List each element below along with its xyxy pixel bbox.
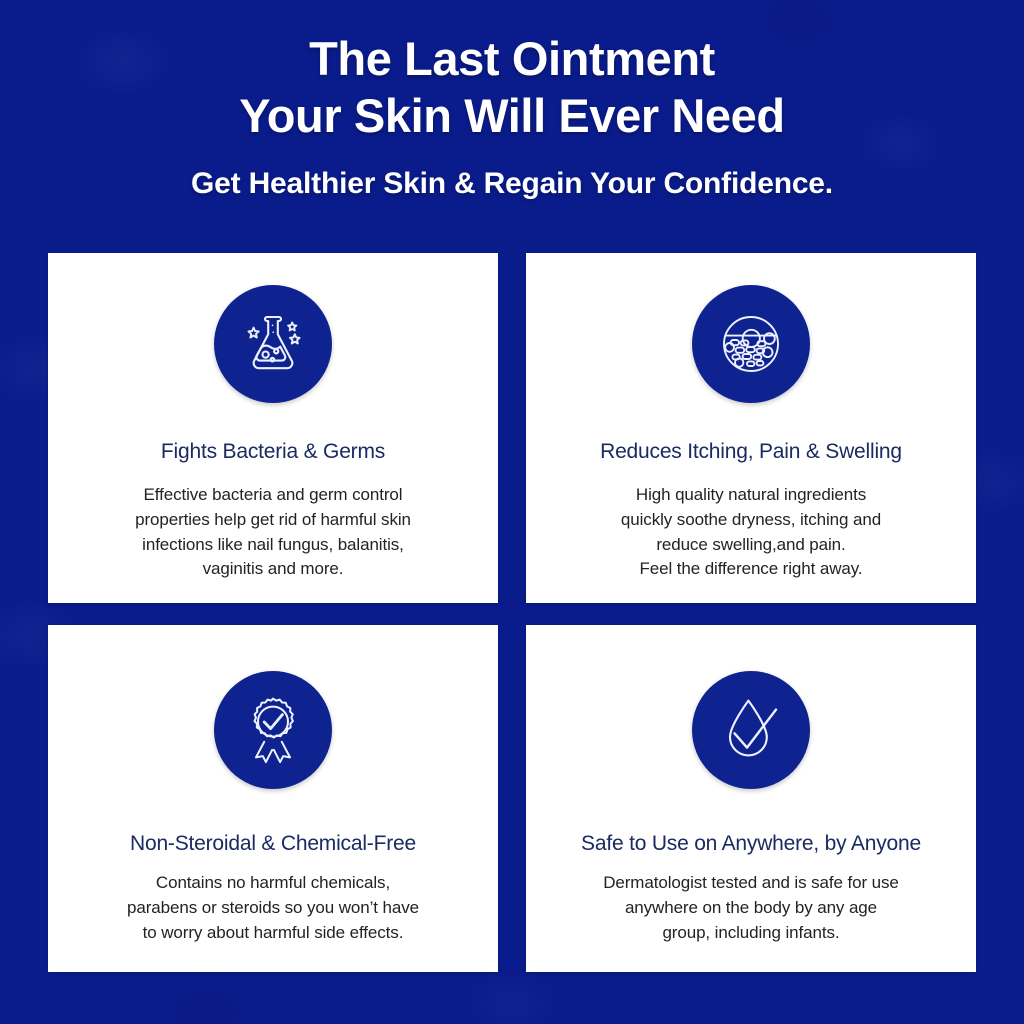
- droplet-check-icon: [692, 671, 810, 789]
- flask-sparkle-icon: [214, 285, 332, 403]
- card-body: Dermatologist tested and is safe for use…: [603, 871, 899, 945]
- award-ribbon-check-icon: [214, 671, 332, 789]
- card-title: Safe to Use on Anywhere, by Anyone: [581, 831, 921, 857]
- page-title: The Last Ointment Your Skin Will Ever Ne…: [0, 30, 1024, 145]
- benefit-card-non-steroidal: Non-Steroidal & Chemical-Free Contains n…: [48, 625, 498, 972]
- benefit-card-safe-to-use: Safe to Use on Anywhere, by Anyone Derma…: [526, 625, 976, 972]
- header: The Last Ointment Your Skin Will Ever Ne…: [0, 0, 1024, 201]
- card-body: Contains no harmful chemicals, parabens …: [127, 871, 419, 945]
- card-title: Fights Bacteria & Germs: [161, 439, 385, 465]
- card-title: Non-Steroidal & Chemical-Free: [130, 831, 416, 857]
- card-body: High quality natural ingredients quickly…: [621, 483, 881, 582]
- benefit-card-fights-bacteria: Fights Bacteria & Germs Effective bacter…: [48, 253, 498, 603]
- headline-line-2: Your Skin Will Ever Need: [0, 87, 1024, 144]
- promo-poster: The Last Ointment Your Skin Will Ever Ne…: [0, 0, 1024, 1024]
- benefit-card-reduces-itching: Reduces Itching, Pain & Swelling High qu…: [526, 253, 976, 603]
- headline-line-1: The Last Ointment: [0, 30, 1024, 87]
- card-title: Reduces Itching, Pain & Swelling: [600, 439, 902, 465]
- skin-cells-icon: [692, 285, 810, 403]
- benefits-grid: Fights Bacteria & Germs Effective bacter…: [48, 253, 976, 972]
- card-body: Effective bacteria and germ control prop…: [135, 483, 411, 582]
- page-subtitle: Get Healthier Skin & Regain Your Confide…: [0, 167, 1024, 201]
